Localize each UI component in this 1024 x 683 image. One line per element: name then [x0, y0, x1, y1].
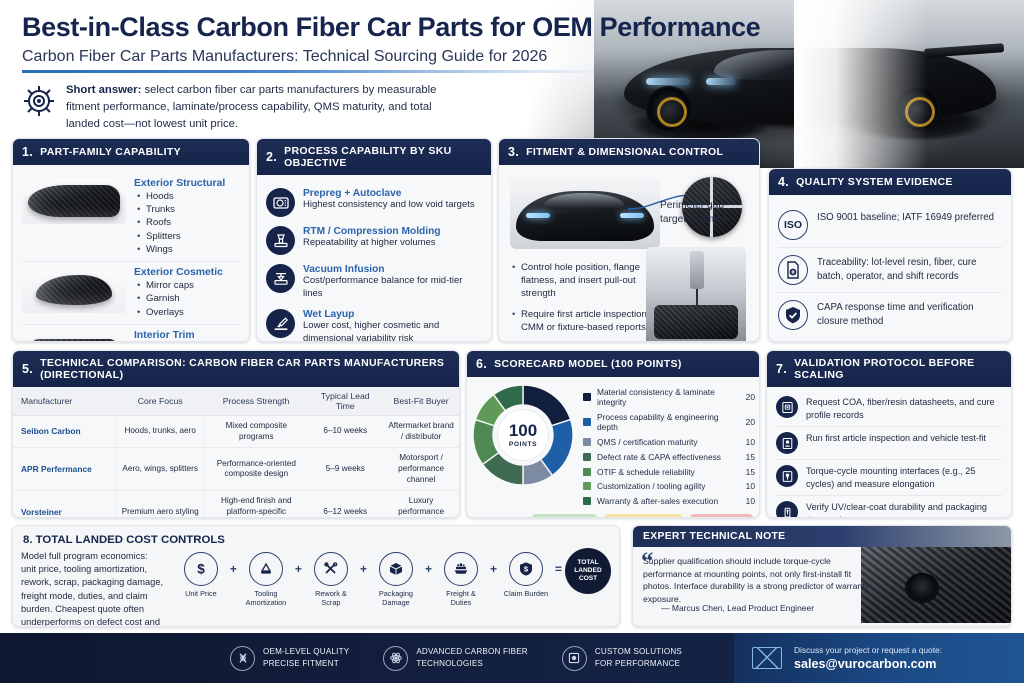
scorecard-donut-chart: 100 POINTS: [471, 383, 575, 487]
operator-equals: =: [555, 552, 562, 576]
tooling-icon: [249, 552, 283, 586]
panel8-body: Model full program economics: unit price…: [13, 550, 619, 627]
perimeter-gap-callout: Perimeter gap target 2–4 mm: [660, 199, 750, 227]
scorecard-body: 100 POINTS Material consistency & lamina…: [467, 377, 759, 508]
panel3-number: 3.: [508, 145, 519, 159]
box-icon: [379, 552, 413, 586]
process-desc: Cost/performance balance for mid-tier li…: [303, 275, 482, 300]
donut-center-label: POINTS: [509, 441, 537, 448]
carbon-mirror-cap-image: [22, 267, 126, 313]
cta-prompt: Discuss your project or request a quote:: [794, 645, 942, 655]
panel7-title: VALIDATION PROTOCOL BEFORE SCALING: [794, 357, 1002, 381]
expert-note-header: EXPERT TECHNICAL NOTE: [633, 526, 1011, 547]
panel2-header: 2. PROCESS CAPABILITY BY SKU OBJECTIVE: [257, 139, 491, 175]
panel1-number: 1.: [22, 145, 33, 159]
shield-check-icon: [778, 300, 808, 330]
legend-label: QMS / certification maturity: [597, 437, 740, 447]
family-row: Exterior Cosmetic Mirror caps Garnish Ov…: [22, 261, 240, 324]
col-core-focus: Core Focus: [116, 387, 205, 416]
ship-icon: [444, 552, 478, 586]
legend-row: Warranty & after-sales execution10: [583, 494, 755, 509]
legend-label: Warranty & after-sales execution: [597, 496, 740, 506]
cost-node-label: Unit Price: [175, 589, 227, 598]
family-item: Splitters: [134, 230, 240, 243]
gate-rejected-chip: Rejected <65: [690, 514, 753, 518]
legend-value: 15: [746, 452, 755, 462]
panel-validation-protocol: 7. VALIDATION PROTOCOL BEFORE SCALING Re…: [766, 350, 1012, 518]
svg-text:$: $: [197, 562, 205, 577]
col-process-strength: Process Strength: [205, 387, 308, 416]
email-icon: [752, 647, 782, 669]
tools-icon: [314, 552, 348, 586]
footer-line2: FOR PERFORMANCE: [595, 658, 682, 670]
cell-process-strength: High-end finish and platform-specific pr…: [205, 491, 308, 518]
legend-value: 20: [746, 392, 755, 402]
family-item: Trunks: [134, 203, 240, 216]
process-row: Vacuum Infusion Cost/performance balance…: [266, 259, 482, 304]
cell-lead-time: 6–12 weeks: [307, 491, 383, 518]
panel7-number: 7.: [776, 362, 787, 376]
panel-total-landed-cost: 8. TOTAL LANDED COST CONTROLS Model full…: [12, 525, 620, 627]
operator-plus: +: [490, 552, 497, 576]
cost-node-unit-price: $ Unit Price: [175, 552, 227, 598]
panel2-number: 2.: [266, 150, 277, 164]
legend-swatch: [583, 438, 591, 446]
panel8-title-row: 8. TOTAL LANDED COST CONTROLS: [13, 526, 619, 550]
panel1-header: 1. PART-FAMILY CAPABILITY: [13, 139, 249, 165]
validation-text: Run first article inspection and vehicle…: [806, 432, 986, 445]
validation-row: Torque-cycle mounting interfaces (e.g., …: [776, 459, 1002, 495]
cell-process-strength: Mixed composite programs: [205, 416, 308, 448]
contact-cta[interactable]: Discuss your project or request a quote:…: [734, 633, 1024, 683]
certificate-icon: [776, 396, 798, 418]
operator-plus: +: [295, 552, 302, 576]
atom-icon: [383, 646, 408, 671]
cost-node-label: Packaging Damage: [370, 589, 422, 608]
operator-plus: +: [230, 552, 237, 576]
legend-value: 10: [746, 437, 755, 447]
legend-label: Process capability & engineering depth: [597, 412, 740, 432]
table-row: Vorsteiner Premium aero styling High-end…: [13, 491, 459, 518]
panel-process-capability: 2. PROCESS CAPABILITY BY SKU OBJECTIVE P…: [256, 138, 492, 342]
total-landed-cost-badge: TOTAL LANDED COST: [565, 548, 611, 594]
custom-icon: [562, 646, 587, 671]
process-heading: Prepreg + Autoclave: [303, 188, 475, 199]
page-title: Best-in-Class Carbon Fiber Car Parts for…: [22, 12, 760, 43]
validation-text: Request COA, fiber/resin datasheets, and…: [806, 396, 1002, 421]
family-heading: Interior Trim: [134, 330, 240, 341]
cost-node-label: Tooling Amortization: [240, 589, 292, 608]
cell-lead-time: 5–9 weeks: [307, 448, 383, 491]
legend-row: Customization / tooling agility10: [583, 479, 755, 494]
panel-scorecard-model: 6. SCORECARD MODEL (100 POINTS) 100 POIN…: [466, 350, 760, 518]
legend-row: Defect rate & CAPA effectiveness15: [583, 449, 755, 464]
validation-row: Request COA, fiber/resin datasheets, and…: [776, 391, 1002, 426]
legend-swatch: [583, 453, 591, 461]
page-subtitle: Carbon Fiber Car Parts Manufacturers: Te…: [22, 48, 547, 66]
family-item: Mirror caps: [134, 279, 240, 292]
footer-item: CUSTOM SOLUTIONSFOR PERFORMANCE: [562, 646, 682, 671]
donut-center: 100 POINTS: [498, 410, 548, 460]
cell-core-focus: Premium aero styling: [116, 491, 205, 518]
manufacturer-comparison-table: Manufacturer Core Focus Process Strength…: [13, 387, 459, 518]
document-traceability-icon: [778, 255, 808, 285]
family-item: Roofs: [134, 216, 240, 229]
process-heading: RTM / Compression Molding: [303, 226, 441, 237]
family-item: Wings: [134, 243, 240, 256]
panel8-title: TOTAL LANDED COST CONTROLS: [36, 534, 225, 546]
legend-value: 15: [746, 467, 755, 477]
donut-center-value: 100: [509, 422, 537, 439]
durability-icon: [776, 501, 798, 518]
cost-node-freight: Freight & Duties: [435, 552, 487, 608]
car-headlight-left: [646, 78, 690, 85]
col-best-fit-buyer: Best-Fit Buyer: [383, 387, 459, 416]
process-row: Prepreg + Autoclave Highest consistency …: [266, 183, 482, 221]
iso-badge-icon: ISO: [778, 210, 808, 240]
legend-swatch: [583, 418, 591, 426]
footer-line2: PRECISE FITMENT: [263, 658, 349, 670]
legend-swatch: [583, 497, 591, 505]
precision-icon: [230, 646, 255, 671]
legend-label: OTIF & schedule reliability: [597, 467, 740, 477]
panel6-number: 6.: [476, 357, 487, 371]
hero-gradient-overlay: [794, 0, 1024, 168]
panel8-number: 8.: [23, 534, 33, 546]
car-headlight-right: [706, 78, 736, 85]
decision-gates-label: Decision gates:: [473, 517, 525, 518]
legend-label: Material consistency & laminate integrit…: [597, 387, 740, 407]
panel3-body: Perimeter gap target 2–4 mm Control hole…: [499, 165, 759, 342]
cost-node-label: Rework & Scrap: [305, 589, 357, 608]
family-heading: Exterior Cosmetic: [134, 267, 240, 278]
family-heading: Exterior Structural: [134, 178, 240, 189]
car-front-wheel: [646, 86, 692, 132]
panel-quality-system-evidence: 4. QUALITY SYSTEM EVIDENCE ISO ISO 9001 …: [768, 168, 1012, 342]
panel5-number: 5.: [22, 362, 33, 376]
panel4-number: 4.: [778, 175, 789, 189]
cell-best-fit-buyer: Motorsport / performance channel: [383, 448, 459, 491]
carbon-hood-image: [22, 178, 126, 224]
short-answer-block: Short answer: select carbon fiber car pa…: [22, 82, 462, 133]
family-item: Garnish: [134, 292, 240, 305]
validation-text: Torque-cycle mounting interfaces (e.g., …: [806, 465, 1002, 490]
footer-bar: OEM-LEVEL QUALITYPRECISE FITMENT ADVANCE…: [0, 633, 1024, 683]
quality-row: Traceability: lot-level resin, fiber, cu…: [778, 247, 1002, 292]
panel-expert-technical-note: EXPERT TECHNICAL NOTE “ Supplier qualifi…: [632, 525, 1012, 627]
footer-item: ADVANCED CARBON FIBERTECHNOLOGIES: [383, 646, 528, 671]
col-manufacturer: Manufacturer: [13, 387, 116, 416]
panel-part-family-capability: 1. PART-FAMILY CAPABILITY Exterior Struc…: [12, 138, 250, 342]
table-row: Seibon Carbon Hoods, trunks, aero Mixed …: [13, 416, 459, 448]
legend-value: 10: [746, 496, 755, 506]
process-heading: Vacuum Infusion: [303, 264, 482, 275]
shield-dollar-icon: $: [509, 552, 543, 586]
cell-process-strength: Performance-oriented composite design: [205, 448, 308, 491]
footer-line1: ADVANCED CARBON FIBER: [416, 646, 528, 658]
legend-label: Customization / tooling agility: [597, 481, 740, 491]
quality-row: CAPA response time and verification clos…: [778, 292, 1002, 337]
panel3-header: 3. FITMENT & DIMENSIONAL CONTROL: [499, 139, 759, 165]
cta-email-address[interactable]: sales@vurocarbon.com: [794, 657, 942, 671]
cost-node-tooling: Tooling Amortization: [240, 552, 292, 608]
process-desc: Highest consistency and low void targets: [303, 199, 475, 212]
panel7-header: 7. VALIDATION PROTOCOL BEFORE SCALING: [767, 351, 1011, 387]
legend-label: Defect rate & CAPA effectiveness: [597, 452, 740, 462]
inspection-icon: [776, 432, 798, 454]
family-item: Hoods: [134, 190, 240, 203]
family-row: Interior Trim Dashboard Console Door ins…: [22, 324, 240, 342]
col-lead-time: Typical Lead Time: [307, 387, 383, 416]
cell-manufacturer: Seibon Carbon: [13, 416, 116, 448]
footer-line1: CUSTOM SOLUTIONS: [595, 646, 682, 658]
cmm-inspection-image: [646, 247, 746, 342]
expert-attribution: — Marcus Chen, Lead Product Engineer: [661, 603, 814, 613]
legend-row: Material consistency & laminate integrit…: [583, 385, 755, 410]
carbon-trim-image: [22, 330, 126, 342]
process-heading: Wet Layup: [303, 309, 482, 320]
legend-row: OTIF & schedule reliability15: [583, 464, 755, 479]
torque-icon: [776, 465, 798, 487]
legend-row: QMS / certification maturity10: [583, 435, 755, 450]
legend-value: 20: [746, 417, 755, 427]
panel-fitment-dimensional-control: 3. FITMENT & DIMENSIONAL CONTROL Perimet…: [498, 138, 760, 342]
process-row: RTM / Compression Molding Repeatability …: [266, 221, 482, 259]
press-mold-icon: [266, 226, 295, 255]
process-row: Wet Layup Lower cost, higher cosmetic an…: [266, 304, 482, 342]
cell-core-focus: Aero, wings, splitters: [116, 448, 205, 491]
title-divider: [22, 70, 602, 73]
panel4-body: ISO ISO 9001 baseline; IATF 16949 prefer…: [769, 195, 1011, 342]
cell-lead-time: 6–10 weeks: [307, 416, 383, 448]
vacuum-infusion-icon: [266, 264, 295, 293]
panel4-title: QUALITY SYSTEM EVIDENCE: [796, 176, 953, 188]
cost-node-label: Claim Burden: [500, 589, 552, 598]
panel5-header: 5. TECHNICAL COMPARISON: CARBON FIBER CA…: [13, 351, 459, 387]
dollar-icon: $: [184, 552, 218, 586]
cell-best-fit-buyer: Luxury performance segment: [383, 491, 459, 518]
short-answer-lead: Short answer:: [66, 84, 141, 96]
panel3-title: FITMENT & DIMENSIONAL CONTROL: [526, 146, 723, 158]
quality-text: CAPA response time and verification clos…: [817, 300, 1002, 329]
panel5-title: TECHNICAL COMPARISON: CARBON FIBER CAR P…: [40, 357, 450, 381]
panel2-title: PROCESS CAPABILITY BY SKU OBJECTIVE: [284, 145, 482, 169]
cell-best-fit-buyer: Aftermarket brand / distributor: [383, 416, 459, 448]
panel1-body: Exterior Structural Hoods Trunks Roofs S…: [13, 165, 249, 342]
table-header-row: Manufacturer Core Focus Process Strength…: [13, 387, 459, 416]
panel1-title: PART-FAMILY CAPABILITY: [40, 146, 181, 158]
validation-row: Verify UV/clear-coat durability and pack…: [776, 495, 1002, 518]
gate-approved-chip: Approved 80+: [532, 514, 597, 518]
quality-text: Traceability: lot-level resin, fiber, cu…: [817, 255, 1002, 284]
cost-node-packaging: Packaging Damage: [370, 552, 422, 608]
family-item: Overlays: [134, 306, 240, 319]
family-row: Exterior Structural Hoods Trunks Roofs S…: [22, 173, 240, 261]
legend-swatch: [583, 482, 591, 490]
quality-row: ISO ISO 9001 baseline; IATF 16949 prefer…: [778, 203, 1002, 247]
cost-node-claim: $ Claim Burden: [500, 552, 552, 598]
legend-row: Process capability & engineering depth20: [583, 410, 755, 435]
cost-node-label: Freight & Duties: [435, 589, 487, 608]
footer-feature-list: OEM-LEVEL QUALITYPRECISE FITMENT ADVANCE…: [230, 633, 682, 683]
process-desc: Repeatability at higher volumes: [303, 237, 441, 250]
cost-chain: $ Unit Price + Tooling Amortization + Re…: [175, 550, 611, 627]
panel2-body: Prepreg + Autoclave Highest consistency …: [257, 175, 491, 342]
panel6-title: SCORECARD MODEL (100 POINTS): [494, 358, 682, 370]
panel4-header: 4. QUALITY SYSTEM EVIDENCE: [769, 169, 1011, 195]
target-icon: [22, 84, 56, 118]
validation-row: Run first article inspection and vehicle…: [776, 426, 1002, 459]
cell-manufacturer: Vorsteiner: [13, 491, 116, 518]
gate-conditional-chip: Conditional 65–79: [604, 514, 683, 518]
process-desc: Lower cost, higher cosmetic and dimensio…: [303, 320, 482, 342]
footer-line1: OEM-LEVEL QUALITY: [263, 646, 349, 658]
quality-text: ISO 9001 baseline; IATF 16949 preferred: [817, 210, 994, 225]
expert-note-body: “ Supplier qualification should include …: [633, 547, 1011, 623]
brush-layup-icon: [266, 309, 295, 338]
legend-swatch: [583, 393, 591, 401]
legend-value: 10: [746, 481, 755, 491]
cost-node-rework: Rework & Scrap: [305, 552, 357, 608]
panel7-body: Request COA, fiber/resin datasheets, and…: [767, 387, 1011, 518]
cell-manufacturer: APR Perfermance: [13, 448, 116, 491]
footer-line2: TECHNOLOGIES: [416, 658, 528, 670]
infographic-page: Best-in-Class Carbon Fiber Car Parts for…: [0, 0, 1024, 683]
carbon-fiber-part-photo: [861, 547, 1011, 623]
autoclave-icon: [266, 188, 295, 217]
table-row: APR Perfermance Aero, wings, splitters P…: [13, 448, 459, 491]
expert-quote-text: Supplier qualification should include to…: [643, 555, 875, 605]
panel-technical-comparison: 5. TECHNICAL COMPARISON: CARBON FIBER CA…: [12, 350, 460, 518]
cell-core-focus: Hoods, trunks, aero: [116, 416, 205, 448]
panel8-description: Model full program economics: unit price…: [21, 550, 165, 627]
footer-item: OEM-LEVEL QUALITYPRECISE FITMENT: [230, 646, 349, 671]
legend-swatch: [583, 468, 591, 476]
panel6-header: 6. SCORECARD MODEL (100 POINTS): [467, 351, 759, 377]
decision-gates: Decision gates: Approved 80+ Conditional…: [467, 508, 759, 518]
scorecard-legend: Material consistency & laminate integrit…: [583, 383, 755, 508]
operator-plus: +: [425, 552, 432, 576]
short-answer-text: Short answer: select carbon fiber car pa…: [66, 82, 462, 133]
operator-plus: +: [360, 552, 367, 576]
validation-text: Verify UV/clear-coat durability and pack…: [806, 501, 1002, 518]
